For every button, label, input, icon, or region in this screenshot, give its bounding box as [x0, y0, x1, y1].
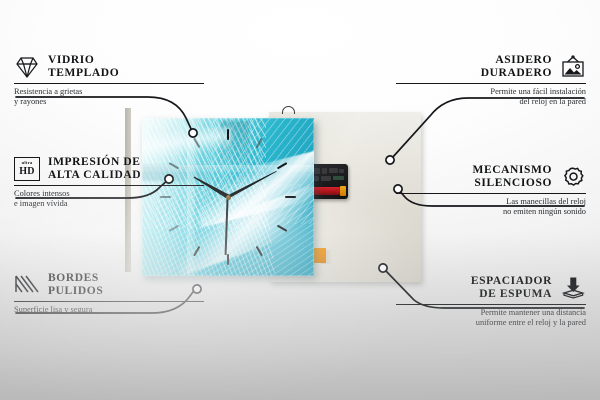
- callout-description: del reloj en la pared: [396, 97, 586, 107]
- callout-description: uniforme entre el reloj y la pared: [396, 318, 586, 328]
- battery: [312, 187, 340, 195]
- callout-divider: [396, 83, 586, 84]
- ultra-hd-badge-icon: ultra HD: [14, 157, 40, 181]
- callout-description: no emiten ningún sonido: [396, 207, 586, 217]
- clock-center-cap: [226, 195, 231, 200]
- callout-title: ESPACIADOR: [471, 275, 552, 288]
- callout-description: Resistencia a grietas: [14, 87, 204, 97]
- polished-edge-lines-icon: [14, 273, 40, 297]
- callout-title: PULIDOS: [48, 285, 103, 298]
- callout-divider: [14, 185, 204, 186]
- callout-mecanismo-silencioso: MECANISMO SILENCIOSO Las manecillas del …: [396, 164, 586, 218]
- infographic-canvas: VIDRIO TEMPLADO Resistencia a grietas y …: [0, 0, 600, 400]
- callout-description: Superficie lisa y segura: [14, 305, 204, 315]
- movement-detail-row: [312, 168, 345, 181]
- callout-asidero-duradero: ASIDERO DURADERO Permite una fácil insta…: [396, 54, 586, 108]
- hanging-frame-icon: [560, 55, 586, 79]
- battery-terminal: [340, 186, 346, 196]
- badge-large-label: HD: [19, 167, 35, 177]
- callout-description: y rayones: [14, 97, 204, 107]
- callout-title: MECANISMO: [472, 164, 552, 177]
- callout-title: SILENCIOSO: [472, 177, 552, 190]
- callout-impresion-alta-calidad: ultra HD IMPRESIÓN DE ALTA CALIDAD Color…: [14, 156, 204, 210]
- wall-hanger-loop: [282, 106, 295, 114]
- callout-divider: [14, 301, 204, 302]
- callout-title: BORDES: [48, 272, 103, 285]
- callout-description: Las manecillas del reloj: [396, 197, 586, 207]
- callout-divider: [396, 304, 586, 305]
- gear-icon: [560, 165, 586, 189]
- callout-title: DURADERO: [481, 67, 552, 80]
- callout-bordes-pulidos: BORDES PULIDOS Superficie lisa y segura: [14, 272, 204, 315]
- callout-title: VIDRIO: [48, 54, 119, 67]
- callout-title: ASIDERO: [481, 54, 552, 67]
- callout-title: IMPRESIÓN DE: [48, 156, 141, 169]
- callout-vidrio-templado: VIDRIO TEMPLADO Resistencia a grietas y …: [14, 54, 204, 108]
- arrow-down-foam-icon: [560, 276, 586, 300]
- callout-description: Colores intensos: [14, 189, 204, 199]
- callout-divider: [14, 83, 204, 84]
- callout-espaciador-de-espuma: ESPACIADOR DE ESPUMA Permite mantener un…: [396, 275, 586, 329]
- diamond-icon: [14, 55, 40, 79]
- clock-minute-hand: [227, 169, 278, 200]
- callout-title: ALTA CALIDAD: [48, 169, 141, 182]
- clock-second-hand: [225, 197, 229, 255]
- callout-divider: [396, 193, 586, 194]
- callout-description: Permite mantener una distancia: [396, 308, 586, 318]
- quartz-movement: [309, 164, 348, 199]
- callout-title: TEMPLADO: [48, 67, 119, 80]
- callout-description: Permite una fácil instalación: [396, 87, 586, 97]
- callout-title: DE ESPUMA: [471, 288, 552, 301]
- callout-description: e imagen vívida: [14, 199, 204, 209]
